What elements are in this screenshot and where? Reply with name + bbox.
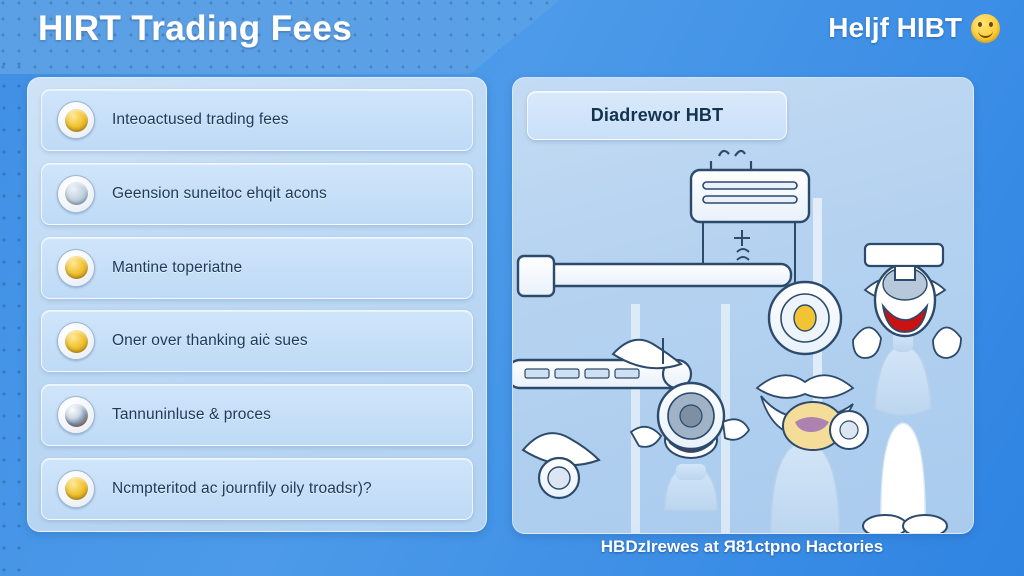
silver-badge-icon [57,175,95,213]
gold-emblem-badge-icon [57,322,95,360]
list-item[interactable]: Geension suneitoc ehqit acons [41,163,473,225]
list-item[interactable]: Ncmpteritod ac journfily oily troadsr)? [41,458,473,520]
abstract-illustration [513,78,973,533]
panel-header-chip[interactable]: Diadrewor HBT [527,91,787,140]
list-item[interactable]: Tannuninluse & proces [41,384,473,446]
screen-root: HIRT Trading Fees Heljf HIBT Inteoactuse… [0,0,1024,576]
feature-list-card: Inteoactused trading fees Geension sunei… [27,77,487,532]
gold-trophy-badge-icon [57,249,95,287]
smiley-face-icon [971,14,1000,43]
list-item-label: Geension suneitoc ehqit acons [112,185,327,203]
left-edge-dot-texture [0,60,22,576]
list-item-label: Tannuninluse & proces [112,406,271,424]
panel-header-label: Diadrewor HBT [591,105,724,126]
brand-label: Heljf HIBT [828,12,962,44]
gold-coin-badge-icon [57,101,95,139]
globe-badge-icon [57,396,95,434]
list-item-label: Mantine toperiatne [112,259,242,277]
page-title: HIRT Trading Fees [38,9,352,49]
list-item-label: Inteoactused trading fees [112,111,289,129]
brand-badge: Heljf HIBT [828,12,1000,44]
list-item[interactable]: Oner over thanking aiċ sues [41,310,473,372]
list-item-label: Oner over thanking aiċ sues [112,332,308,350]
gold-dollar-badge-icon [57,470,95,508]
panel-caption: HBDzIrewes at Я81ctpno Hactories [512,537,972,557]
list-item[interactable]: Mantine toperiatne [41,237,473,299]
list-item-label: Ncmpteritod ac journfily oily troadsr)? [112,480,372,498]
illustration-card: Diadrewor HBT [512,77,974,534]
list-item[interactable]: Inteoactused trading fees [41,89,473,151]
